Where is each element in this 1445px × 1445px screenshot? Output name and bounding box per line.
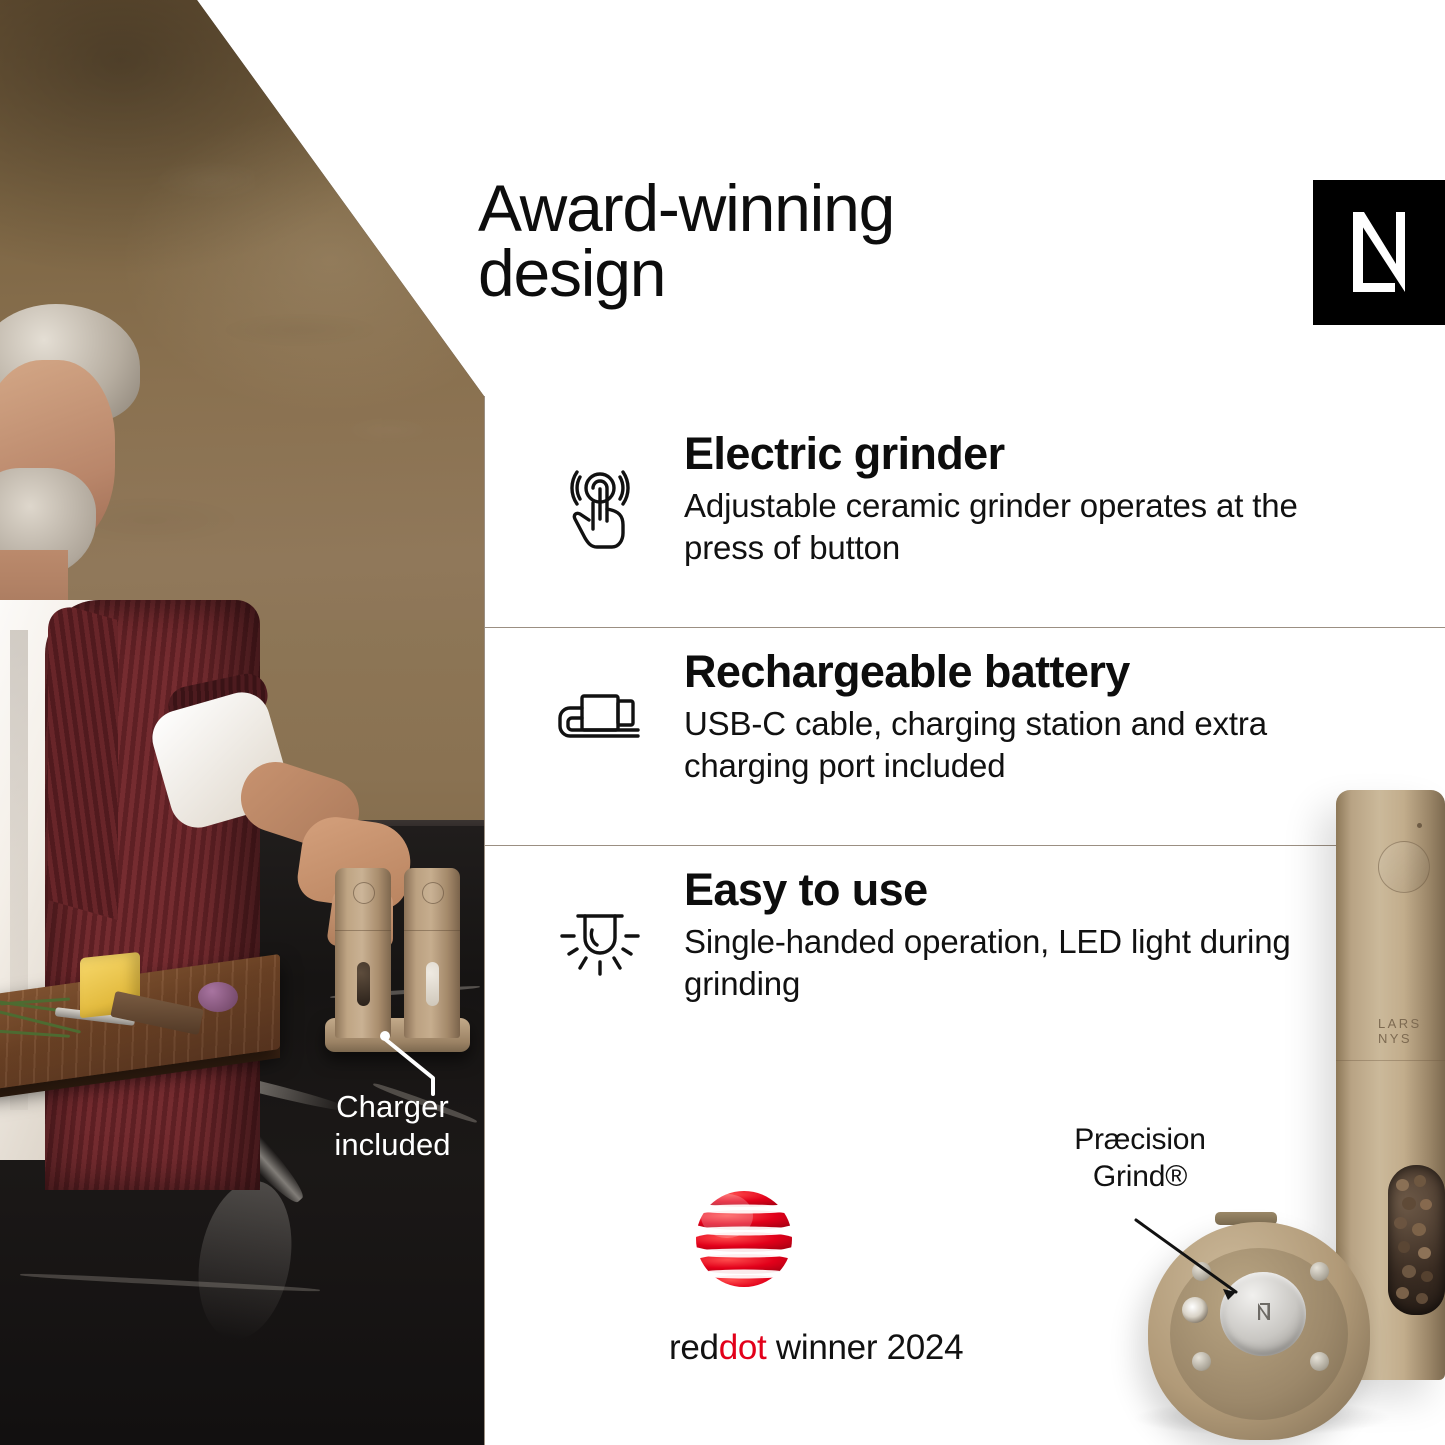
product-body-seam: [1336, 1060, 1445, 1061]
feature-text: Easy to use Single-handed operation, LED…: [684, 866, 1384, 1005]
feature-rechargeable-battery: Rechargeable battery USB-C cable, chargi…: [484, 648, 1445, 845]
feature-title: Electric grinder: [684, 430, 1384, 478]
grinder-button: [353, 882, 375, 904]
feature-description: Adjustable ceramic grinder operates at t…: [684, 485, 1384, 569]
led-light-icon: [558, 904, 642, 984]
feature-title: Easy to use: [684, 866, 1384, 914]
base-screw: [1192, 1352, 1211, 1371]
product-peppercorn-window: [1388, 1165, 1445, 1315]
ln-monogram-logo: [1313, 180, 1445, 325]
lifestyle-photo: Charger included: [0, 0, 484, 1445]
charger-included-callout: Charger included: [300, 1088, 484, 1164]
feature-text: Rechargeable battery USB-C cable, chargi…: [684, 648, 1384, 787]
grinder-seam: [404, 930, 460, 931]
page-title: Award-winning design: [478, 176, 1098, 305]
feature-description: Single-handed operation, LED light durin…: [684, 921, 1384, 1005]
product-led-pinhole: [1417, 823, 1422, 828]
feature-title: Rechargeable battery: [684, 648, 1384, 696]
base-screw: [1310, 1262, 1329, 1281]
precision-callout-line: [1128, 1218, 1278, 1303]
shallot: [198, 982, 238, 1012]
feature-divider-2: [484, 845, 1445, 846]
reddot-award-label: reddot winner 2024: [669, 1328, 963, 1368]
product-brand-engraving: LARS NYS: [1378, 1016, 1445, 1046]
tap-press-hand-icon: [558, 465, 642, 549]
jacket-lapel: [48, 600, 118, 920]
usb-c-plug-cable-icon: [558, 688, 642, 758]
feature-divider-1: [484, 627, 1445, 628]
reddot-word-dot: dot: [719, 1328, 767, 1367]
precision-grind-callout: Præcision Grind®: [1040, 1122, 1240, 1195]
grinder-window-salt: [426, 962, 439, 1006]
grinder-seam: [335, 930, 391, 931]
feature-easy-to-use: Easy to use Single-handed operation, LED…: [484, 866, 1445, 1063]
product-power-button: [1378, 841, 1430, 893]
product-feature-graphic: Charger included Award-winning design: [0, 0, 1445, 1445]
grinder-button: [422, 882, 444, 904]
feature-text: Electric grinder Adjustable ceramic grin…: [684, 430, 1384, 569]
feature-electric-grinder: Electric grinder Adjustable ceramic grin…: [484, 430, 1445, 627]
feature-description: USB-C cable, charging station and extra …: [684, 703, 1384, 787]
reddot-word-red: red: [669, 1328, 719, 1367]
reddot-sphere-icon: [689, 1184, 799, 1294]
base-screw: [1310, 1352, 1329, 1371]
grinder-window-pepper: [357, 962, 370, 1006]
reddot-word-winner-year: winner 2024: [766, 1328, 963, 1367]
